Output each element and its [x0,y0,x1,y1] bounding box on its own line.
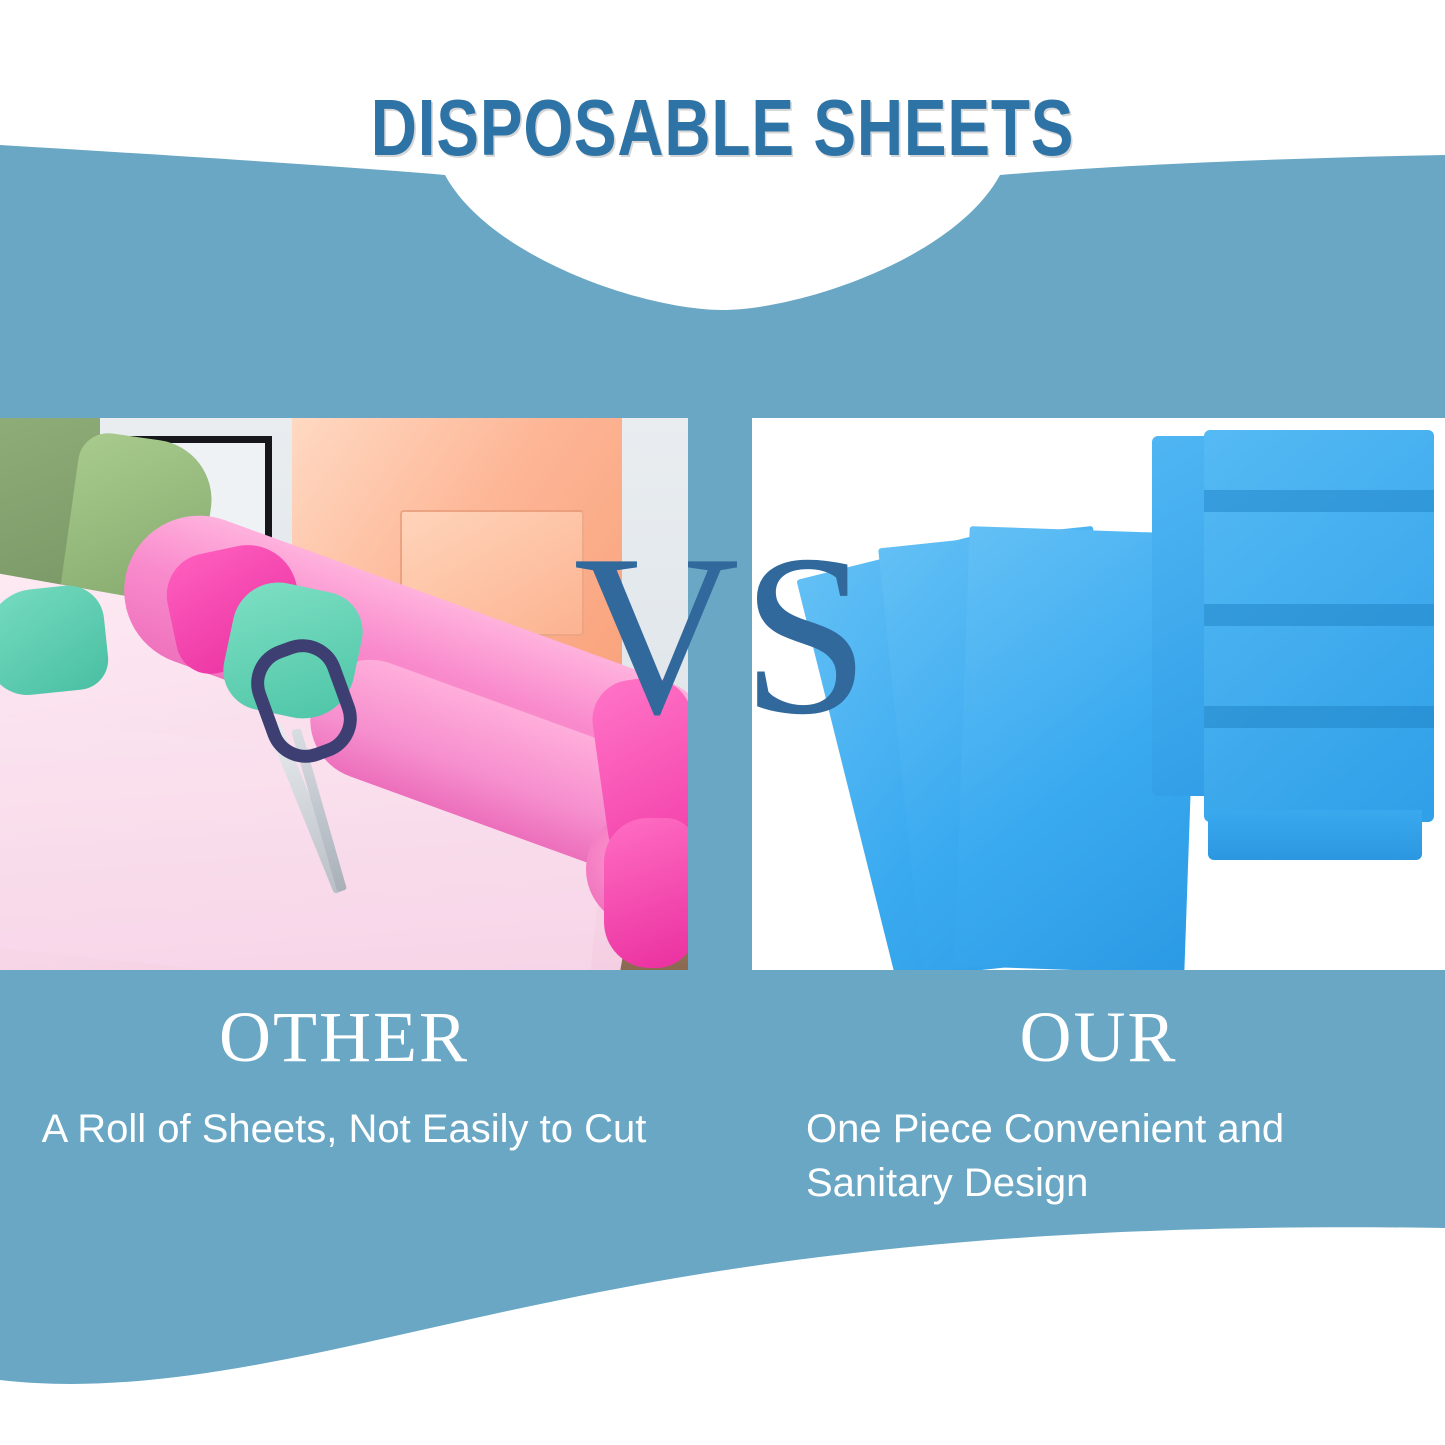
our-description: One Piece Convenient and Sanitary Design [752,1102,1445,1210]
comparison-column-our: OUR One Piece Convenient and Sanitary De… [752,998,1445,1210]
photo-teal-glove-left [0,582,111,699]
product-stack-front [1204,430,1434,822]
our-heading: OUR [752,998,1445,1076]
product-stack-flap [1208,810,1422,860]
other-description: A Roll of Sheets, Not Easily to Cut [0,1102,688,1156]
other-heading: OTHER [0,998,688,1076]
comparison-column-other: OTHER A Roll of Sheets, Not Easily to Cu… [0,998,688,1156]
product-stack-fold-line-1 [1204,490,1434,512]
poster-root: DISPOSABLE SHEETS [0,0,1445,1445]
photo-pink-glove-right-b [604,818,688,968]
comparison-image-other [0,418,688,970]
page-title: DISPOSABLE SHEETS [145,82,1301,174]
comparison-image-our [752,418,1445,970]
product-stack-fold-line-2 [1204,604,1434,626]
product-stack-fold-line-3 [1204,706,1434,728]
